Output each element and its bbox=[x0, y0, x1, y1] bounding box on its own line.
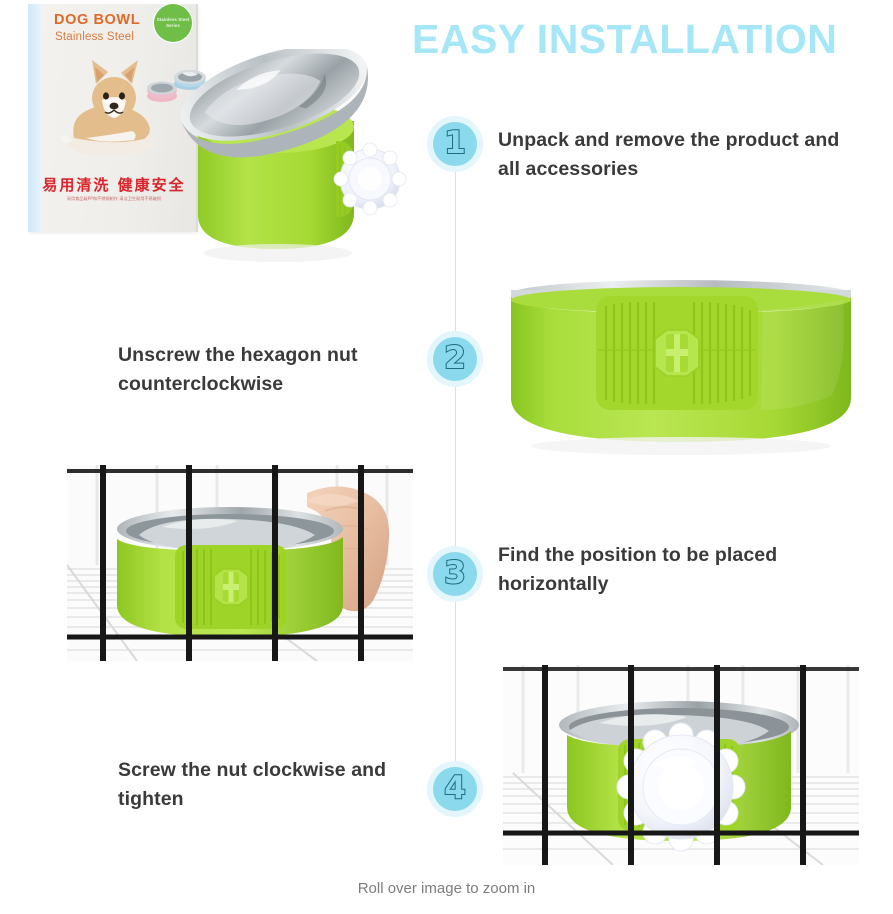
step-badge-1-number: 1 bbox=[444, 128, 466, 159]
step-badge-1-disc: 1 bbox=[433, 122, 477, 166]
step-badge-3-number: 3 bbox=[444, 558, 466, 589]
step-badge-1[interactable]: 1 bbox=[427, 116, 483, 172]
step-caption-2: Unscrew the hexagon nut counterclockwise bbox=[30, 341, 415, 399]
zoom-hint-text: Roll over image to zoom in bbox=[0, 880, 893, 897]
photo-bowl-front[interactable] bbox=[498, 270, 864, 460]
step-badge-2-number: 2 bbox=[444, 343, 466, 374]
step-caption-3: Find the position to be placed horizonta… bbox=[498, 541, 866, 599]
photo-tightened[interactable] bbox=[503, 665, 859, 865]
photo-placement[interactable] bbox=[67, 465, 413, 661]
step-caption-4: Screw the nut clockwise and tighten bbox=[30, 756, 415, 814]
stainless-steel-seal-badge: Stainless Steel Series bbox=[156, 6, 190, 40]
step-badge-4-disc: 4 bbox=[433, 767, 477, 811]
step-badge-3[interactable]: 3 bbox=[427, 546, 483, 602]
page-title: EASY INSTALLATION bbox=[412, 10, 893, 68]
step-connector-line bbox=[455, 150, 456, 810]
package-spine bbox=[28, 4, 42, 232]
step-caption-1: Unpack and remove the product and all ac… bbox=[498, 126, 866, 184]
package-subtitle: Stainless Steel bbox=[55, 31, 134, 43]
photo-unboxing[interactable]: DOG BOWL Stainless Steel Stainless Steel… bbox=[8, 4, 412, 262]
package-title: DOG BOWL bbox=[54, 12, 140, 28]
tilted-bowl-illustration bbox=[158, 49, 412, 262]
step-badge-3-disc: 3 bbox=[433, 552, 477, 596]
step-badge-2[interactable]: 2 bbox=[427, 331, 483, 387]
step-badge-2-disc: 2 bbox=[433, 337, 477, 381]
step-badge-4-number: 4 bbox=[444, 773, 466, 804]
step-badge-4[interactable]: 4 bbox=[427, 761, 483, 817]
